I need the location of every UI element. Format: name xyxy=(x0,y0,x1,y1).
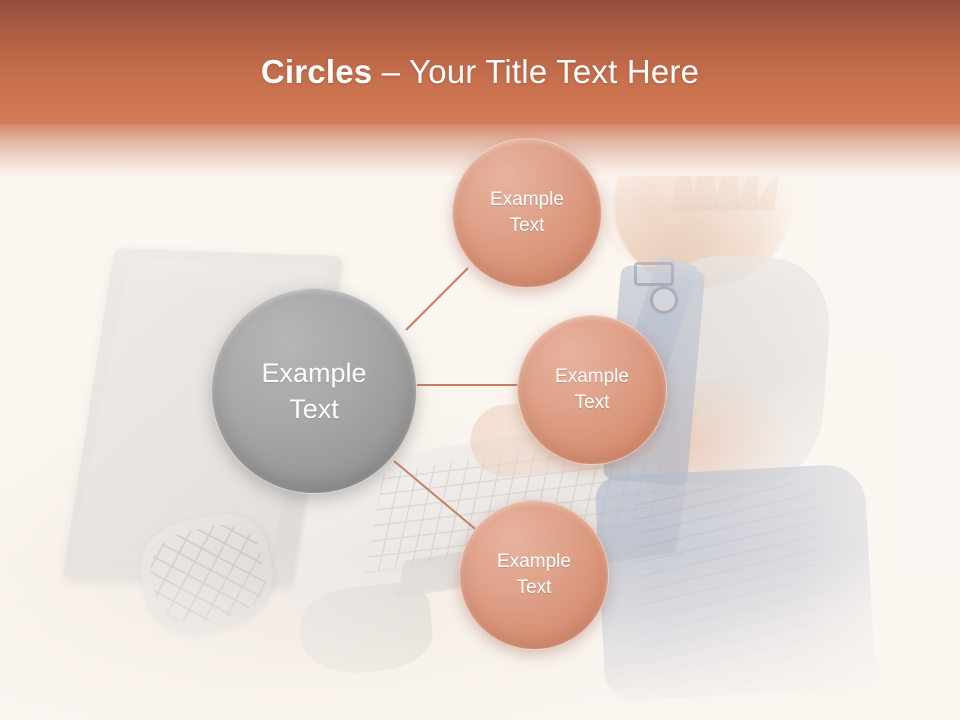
page-title-rest: – Your Title Text Here xyxy=(372,53,699,90)
diagram-node-bottom-label: ExampleText xyxy=(489,549,579,601)
diagram-node-middle[interactable]: ExampleText xyxy=(517,315,667,465)
page-title-bold: Circles xyxy=(261,53,372,90)
diagram-node-middle-label: ExampleText xyxy=(547,364,637,416)
overall-clip-icon xyxy=(634,262,674,286)
diagram-node-top[interactable]: ExampleText xyxy=(452,138,602,288)
overall-buckle-icon xyxy=(650,286,678,314)
presentation-slide: Circles – Your Title Text Here ExampleTe… xyxy=(0,0,960,720)
diagram-node-bottom[interactable]: ExampleText xyxy=(459,500,609,650)
diagram-node-hub[interactable]: ExampleText xyxy=(211,288,417,494)
denim-seam-texture xyxy=(635,481,825,690)
diagram-node-top-label: ExampleText xyxy=(482,187,572,239)
page-title: Circles – Your Title Text Here xyxy=(0,52,960,92)
diagram-node-hub-label: ExampleText xyxy=(253,355,374,427)
child-ear xyxy=(632,176,672,234)
